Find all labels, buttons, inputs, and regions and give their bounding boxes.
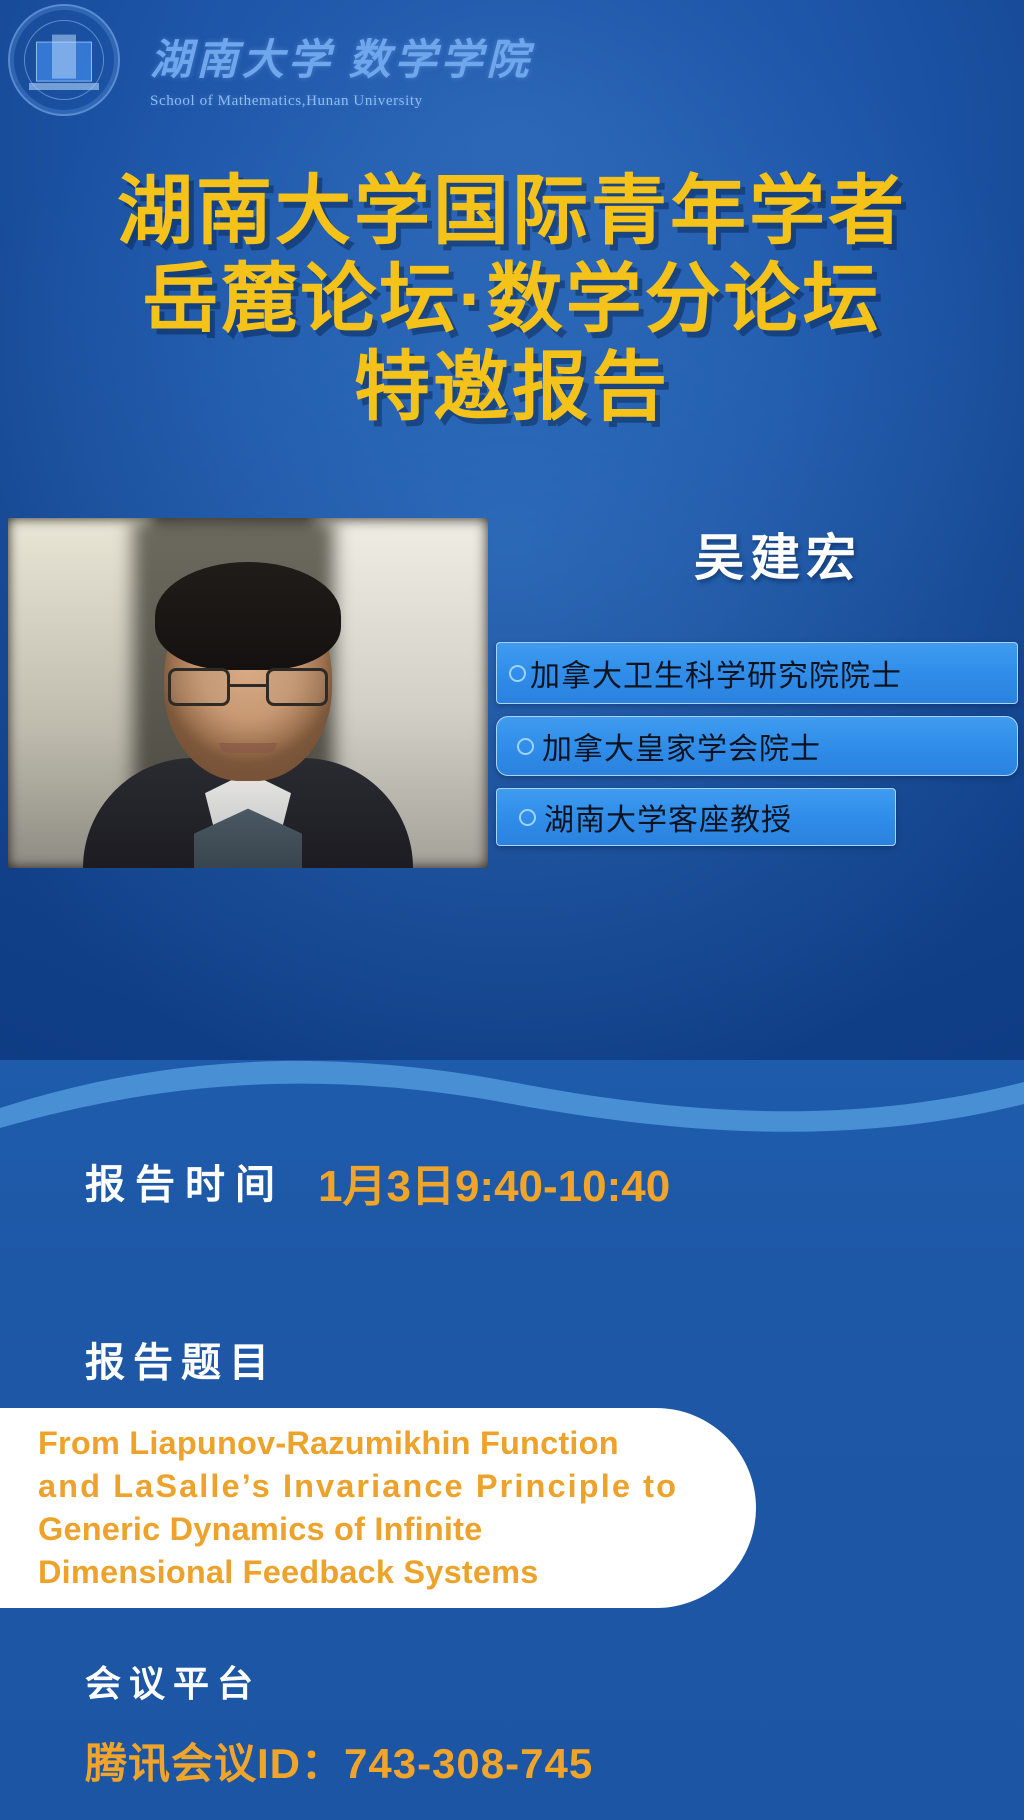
wordmark-english: School of Mathematics,Hunan University [150, 93, 570, 110]
poster-canvas: 湖南大学 数学学院 School of Mathematics,Hunan Un… [0, 0, 1024, 1820]
credential-text-2: 加拿大皇家学会院士 [542, 724, 821, 768]
talk-title-line-3: Generic Dynamics of Infinite [38, 1508, 678, 1551]
crest-gate-shape [36, 42, 92, 82]
talk-title-line-2: and LaSalle’s Invariance Principle to [38, 1465, 678, 1508]
headline-line-2: 岳麓论坛·数学分论坛 [0, 256, 1024, 344]
photo-glasses-icon [168, 668, 328, 708]
speaker-name: 吴建宏 [568, 518, 988, 590]
bullet-circle-icon [517, 738, 534, 755]
schedule-row: 报告时间 1月3日9:40-10:40 [0, 1152, 1024, 1212]
glasses-left-lens [168, 668, 230, 706]
credential-badge-1: 加拿大卫生科学研究院院士 [496, 642, 1018, 704]
photo-hair [155, 562, 341, 670]
poster-header: 湖南大学 数学学院 School of Mathematics,Hunan Un… [0, 0, 1024, 120]
glasses-bridge [230, 684, 266, 687]
photo-mouth [219, 743, 277, 753]
credential-badge-2: 加拿大皇家学会院士 [496, 716, 1018, 776]
wordmark-chinese: 湖南大学 数学学院 [150, 26, 570, 87]
speaker-photo [8, 518, 488, 868]
talk-title-line-4: Dimensional Feedback Systems [38, 1551, 678, 1594]
school-wordmark: 湖南大学 数学学院 School of Mathematics,Hunan Un… [150, 26, 570, 110]
credential-text-3: 湖南大学客座教授 [544, 795, 792, 839]
credential-text-1: 加拿大卫生科学研究院院士 [530, 651, 902, 695]
meeting-id-text: 腾讯会议ID：743-308-745 [85, 1730, 593, 1791]
bullet-circle-icon [509, 665, 526, 682]
headline-line-1: 湖南大学国际青年学者 [0, 168, 1024, 256]
poster-headline: 湖南大学国际青年学者 岳麓论坛·数学分论坛 特邀报告 [0, 168, 1024, 432]
schedule-value: 1月3日9:40-10:40 [318, 1150, 670, 1214]
headline-line-3: 特邀报告 [0, 344, 1024, 432]
talk-title-line-1: From Liapunov-Razumikhin Function [38, 1422, 678, 1465]
glasses-right-lens [266, 668, 328, 706]
schedule-label: 报告时间 [85, 1152, 285, 1210]
talk-title-text: From Liapunov-Razumikhin Function and La… [0, 1422, 764, 1595]
talk-title-card: From Liapunov-Razumikhin Function and La… [0, 1408, 756, 1608]
credential-badge-3: 湖南大学客座教授 [496, 788, 896, 846]
crest-base-shape [29, 83, 99, 90]
hunan-university-crest-icon [8, 4, 120, 116]
platform-label: 会议平台 [85, 1655, 261, 1707]
bullet-circle-icon [519, 809, 536, 826]
topic-label: 报告题目 [85, 1330, 277, 1388]
wave-divider [0, 1020, 1024, 1160]
